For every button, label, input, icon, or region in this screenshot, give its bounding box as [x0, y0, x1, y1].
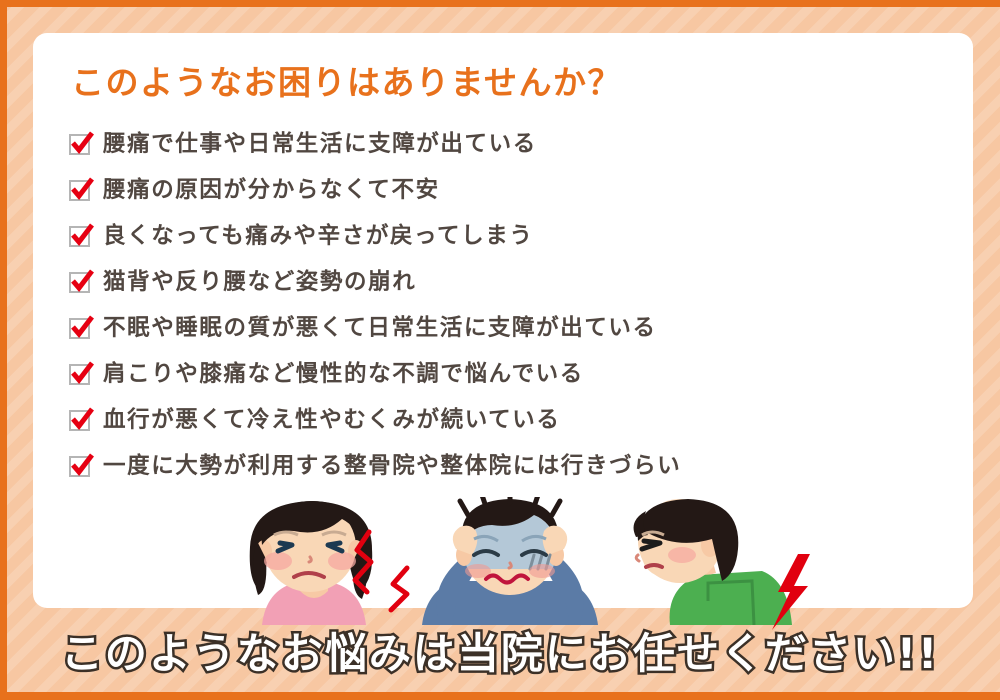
list-item-label: 腰痛の原因が分からなくて不安 [103, 179, 440, 202]
list-item[interactable]: 不眠や睡眠の質が悪くて日常生活に支障が出ている [69, 305, 949, 351]
list-item-label: 一度に大勢が利用する整骨院や整体院には行きづらい [103, 455, 681, 478]
check-icon[interactable] [69, 456, 90, 477]
page-title: このようなお困りはありませんか？ [71, 56, 622, 104]
list-item-label: 血行が悪くて冷え性やむくみが続いている [103, 409, 560, 432]
frame-border-left [0, 0, 7, 700]
list-item[interactable]: 猫背や反り腰など姿勢の崩れ [69, 259, 949, 305]
frame-border-bottom [0, 692, 1000, 700]
check-icon[interactable] [69, 180, 90, 201]
list-item[interactable]: 肩こりや膝痛など慢性的な不調で悩んでいる [69, 351, 949, 397]
poster-root: このようなお困りはありませんか？ 腰痛で仕事や日常生活に支障が出ている 腰痛の原… [0, 0, 1000, 700]
check-icon[interactable] [69, 318, 90, 339]
pain-mark-zigzag [345, 528, 415, 618]
list-item-label: 猫背や反り腰など姿勢の崩れ [103, 271, 416, 294]
list-item[interactable]: 血行が悪くて冷え性やむくみが続いている [69, 397, 949, 443]
illustration-man-headache [418, 497, 603, 625]
check-icon[interactable] [69, 226, 90, 247]
list-item[interactable]: 腰痛で仕事や日常生活に支障が出ている [69, 121, 949, 167]
list-item-label: 不眠や睡眠の質が悪くて日常生活に支障が出ている [103, 317, 657, 340]
frame-border-top [0, 0, 1000, 7]
pain-mark-lightning [768, 552, 818, 632]
check-icon[interactable] [69, 134, 90, 155]
list-item[interactable]: 一度に大勢が利用する整骨院や整体院には行きづらい [69, 443, 949, 489]
list-item-label: 肩こりや膝痛など慢性的な不調で悩んでいる [103, 363, 584, 386]
list-item[interactable]: 良くなっても痛みや辛さが戻ってしまう [69, 213, 949, 259]
list-item[interactable]: 腰痛の原因が分からなくて不安 [69, 167, 949, 213]
check-icon[interactable] [69, 410, 90, 431]
check-icon[interactable] [69, 364, 90, 385]
check-icon[interactable] [69, 272, 90, 293]
list-item-label: 良くなっても痛みや辛さが戻ってしまう [103, 225, 533, 248]
list-item-label: 腰痛で仕事や日常生活に支障が出ている [103, 133, 537, 156]
concern-list: 腰痛で仕事や日常生活に支障が出ている 腰痛の原因が分からなくて不安 良くなっても… [69, 121, 949, 489]
